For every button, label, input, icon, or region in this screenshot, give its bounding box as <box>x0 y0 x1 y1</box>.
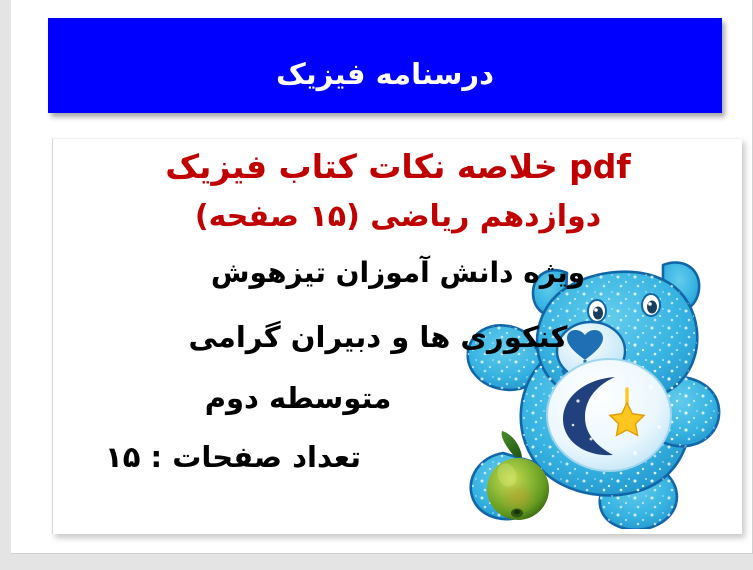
page-title: درسنامه فیزیک <box>276 60 494 89</box>
content-card: pdf خلاصه نکات کتاب فیزیک دوازدهم ریاضی … <box>52 138 742 534</box>
illustration-layer <box>53 139 742 534</box>
page-sheet: درسنامه فیزیک <box>11 0 753 554</box>
title-banner: درسنامه فیزیک <box>48 18 722 113</box>
belly-badge-moon-star-icon <box>547 359 671 471</box>
green-apple-icon <box>478 427 560 523</box>
app-root: درسنامه فیزیک <box>0 0 753 570</box>
